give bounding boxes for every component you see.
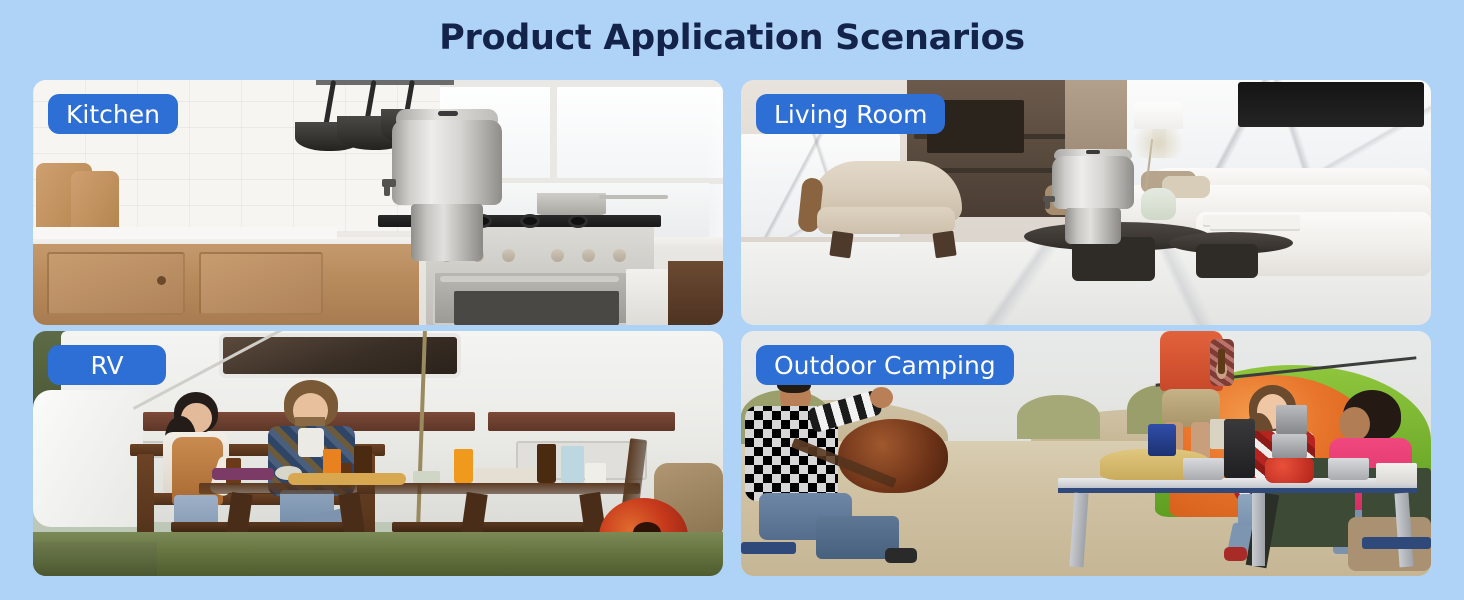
scenario-card-living-room[interactable]: Living Room	[741, 80, 1431, 325]
badge-living-room: Living Room	[756, 94, 945, 134]
badge-rv: RV	[48, 345, 166, 385]
badge-kitchen: Kitchen	[48, 94, 178, 134]
scenario-card-rv[interactable]: RV	[33, 331, 723, 576]
page-title: Product Application Scenarios	[0, 18, 1464, 58]
scenario-card-outdoor-camping[interactable]: Outdoor Camping	[741, 331, 1431, 576]
tv-screen	[1238, 82, 1424, 126]
product-application-scenarios-page: Product Application Scenarios	[0, 0, 1464, 600]
scenario-card-kitchen[interactable]: Kitchen	[33, 80, 723, 325]
scenario-grid: Kitchen	[33, 80, 1431, 576]
badge-outdoor-camping: Outdoor Camping	[756, 345, 1014, 385]
